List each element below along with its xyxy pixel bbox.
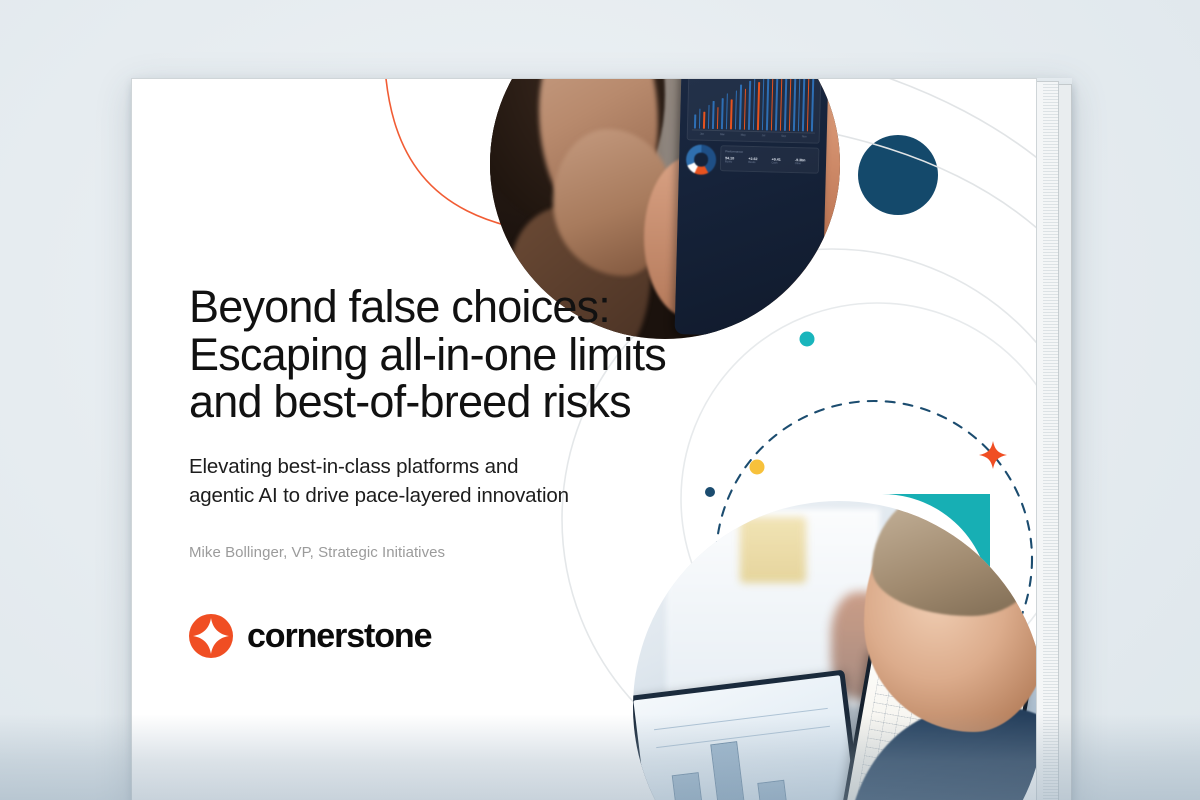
navy-circle-shape: [858, 135, 938, 215]
yellow-dot-icon: [750, 460, 765, 475]
tablet-performance-card: Performance 54.10 Equity +2.62 Bonds: [720, 145, 820, 174]
candlestick-bar: [753, 78, 756, 130]
chart-tick-label: Jan: [700, 132, 704, 135]
candlestick-bar: [771, 78, 774, 130]
author-byline: Mike Bollinger, VP, Strategic Initiative…: [189, 544, 445, 561]
chart-tick-label: Jul: [762, 134, 765, 137]
page-title-line: Beyond false choices:: [189, 281, 610, 332]
candlestick-bar: [698, 108, 700, 128]
candlestick-bar: [789, 78, 792, 130]
person-hair: [872, 501, 1037, 616]
page-title-line: Escaping all-in-one limits: [189, 329, 666, 380]
allocation-donut-chart: [686, 144, 717, 175]
cornerstone-star-icon: [189, 614, 233, 658]
candlestick-bar: [748, 80, 751, 129]
page-subtitle: Elevating best-in-class platforms and ag…: [189, 452, 659, 510]
candlestick-bar: [721, 98, 723, 129]
candlestick-bar: [762, 78, 765, 130]
candlestick-bar: [716, 107, 718, 129]
candlestick-bar: [730, 99, 732, 129]
page-stack-texture: [1043, 84, 1059, 800]
cornerstone-logo: cornerstone: [189, 614, 431, 658]
page-subtitle-line: agentic AI to drive pace-layered innovat…: [189, 484, 569, 507]
candlestick-bar: [757, 82, 760, 130]
candlestick-bar: [807, 78, 810, 131]
tablet-mini-stat: +9.41 Cash: [772, 157, 791, 165]
candlestick-bar: [775, 78, 778, 130]
candlestick-bar: [735, 90, 738, 129]
chart-tick-label: Mar: [720, 133, 725, 136]
candlestick-bar: [744, 88, 747, 129]
candlestick-bar: [802, 78, 806, 131]
candlestick-bar: [798, 78, 801, 131]
candlestick-bar: [739, 84, 742, 129]
candlestick-bar: [726, 93, 729, 129]
tablet-chart-card: Recent balance JanMarMayJulSepNov: [687, 78, 823, 143]
tablet-mini-stat: 54.10 Equity: [725, 156, 744, 164]
cover-page: Account overview Summary Account value $…: [131, 78, 1037, 800]
chart-tick-label: Nov: [802, 135, 807, 138]
candlestick-bar: [811, 78, 815, 131]
candlestick-bar: [703, 111, 705, 128]
chart-tick-label: May: [741, 133, 746, 136]
candlestick-bar: [766, 78, 769, 130]
candlestick-bar: [707, 104, 709, 128]
page-subtitle-line: Elevating best-in-class platforms and: [189, 455, 518, 478]
navy-dot-icon: [705, 487, 715, 497]
tablet-mini-stat: -9.3bn Other: [795, 158, 814, 166]
page-title-line: and best-of-breed risks: [189, 376, 631, 427]
candlestick-bar: [694, 114, 696, 128]
photo-man-at-workstation: [633, 501, 1037, 800]
chart-tick-label: Sep: [781, 134, 786, 137]
page-title: Beyond false choices: Escaping all-in-on…: [189, 283, 789, 426]
candlestick-chart: JanMarMayJulSepNov: [692, 78, 817, 139]
candlestick-bar: [712, 100, 714, 128]
candlestick-bar: [780, 78, 783, 130]
cornerstone-wordmark: cornerstone: [247, 617, 431, 656]
candlestick-bar: [784, 78, 787, 130]
orange-sparkle-icon: [979, 441, 1007, 469]
tablet-mini-stat: +2.62 Bonds: [748, 156, 767, 164]
candlestick-bar: [793, 78, 796, 131]
screenshot-viewport: Account overview Summary Account value $…: [0, 0, 1200, 800]
